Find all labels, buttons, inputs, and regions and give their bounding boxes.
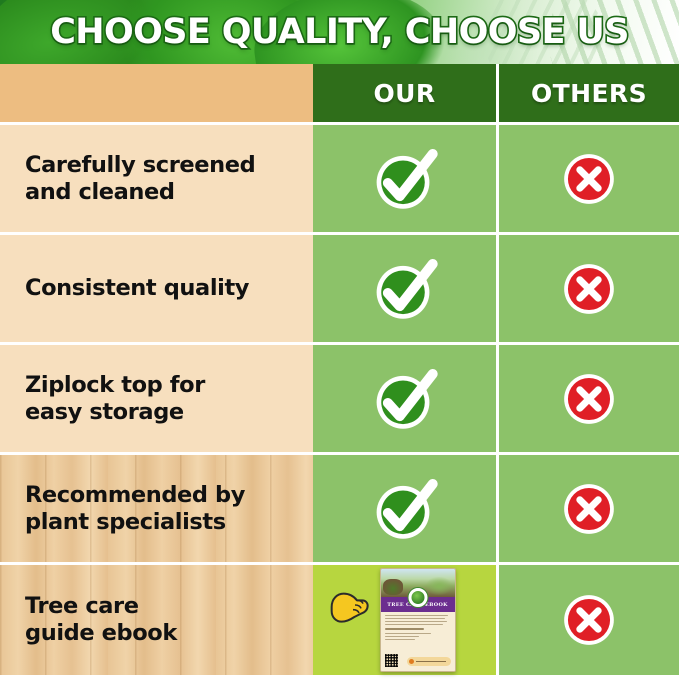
comparison-infographic: CHOOSE QUALITY, CHOOSE US OUR OTHERS Car… (0, 0, 679, 679)
feature-label: Ziplock top for easy storage (25, 372, 205, 425)
others-cell (499, 125, 679, 232)
our-cell (313, 125, 499, 232)
feature-label: Recommended by plant specialists (25, 482, 245, 535)
others-column-header: OTHERS (499, 64, 679, 122)
check-circle-icon (372, 256, 438, 322)
pointing-hand-icon (327, 587, 371, 627)
cross-circle-icon (562, 593, 616, 647)
our-cell (313, 235, 499, 342)
feature-label-line: Tree care (25, 593, 177, 620)
feature-label-line: Consistent quality (25, 275, 249, 302)
feature-label-line: Recommended by (25, 482, 245, 509)
feature-label-line: Ziplock top for (25, 372, 205, 399)
check-circle-icon (372, 366, 438, 432)
table-row: Tree care guide ebook (0, 562, 679, 675)
feature-cell: Ziplock top for easy storage (0, 345, 313, 452)
feature-label-line: easy storage (25, 399, 205, 426)
ebook-cover-card[interactable]: TREE CARE EBOOK (380, 568, 456, 672)
others-cell (499, 235, 679, 342)
others-cell (499, 345, 679, 452)
text-line (385, 615, 448, 616)
text-line (385, 639, 415, 640)
header-banner: CHOOSE QUALITY, CHOOSE US (0, 0, 679, 64)
cross-circle-icon (562, 262, 616, 316)
ebook-body-text (381, 612, 455, 671)
comparison-table: OUR OTHERS Carefully screened and cleane… (0, 64, 679, 679)
others-cell (499, 565, 679, 675)
feature-label-line: and cleaned (25, 179, 255, 206)
table-row: Consistent quality (0, 232, 679, 342)
feature-cell: Recommended by plant specialists (0, 455, 313, 562)
qr-code-icon (385, 654, 398, 667)
our-cell: TREE CARE EBOOK (313, 565, 499, 675)
feature-label-line: plant specialists (25, 509, 245, 536)
feature-label: Consistent quality (25, 275, 249, 302)
ebook-cta-pill (407, 657, 451, 666)
cross-circle-icon (562, 372, 616, 426)
our-column-label: OUR (373, 79, 435, 108)
feature-cell: Consistent quality (0, 235, 313, 342)
text-line (385, 618, 446, 619)
text-line (385, 621, 448, 622)
text-line (385, 628, 425, 630)
table-header-row: OUR OTHERS (0, 64, 679, 122)
table-row: Carefully screened and cleaned (0, 122, 679, 232)
our-column-header: OUR (313, 64, 499, 122)
feature-label-line: Carefully screened (25, 152, 255, 179)
feature-label: Tree care guide ebook (25, 593, 177, 646)
others-cell (499, 455, 679, 562)
feature-label: Carefully screened and cleaned (25, 152, 255, 205)
others-column-label: OTHERS (531, 79, 647, 108)
text-line (385, 624, 443, 625)
our-cell (313, 455, 499, 562)
feature-column-header (0, 64, 313, 122)
cross-circle-icon (562, 482, 616, 536)
feature-cell: Carefully screened and cleaned (0, 125, 313, 232)
ebook-logo-icon (407, 587, 428, 608)
cross-circle-icon (562, 152, 616, 206)
page-title: CHOOSE QUALITY, CHOOSE US (0, 12, 679, 52)
our-cell (313, 345, 499, 452)
check-circle-icon (372, 146, 438, 212)
table-row: Ziplock top for easy storage (0, 342, 679, 452)
feature-cell: Tree care guide ebook (0, 565, 313, 675)
table-row: Recommended by plant specialists (0, 452, 679, 562)
check-circle-icon (372, 476, 438, 542)
ebook-promo[interactable]: TREE CARE EBOOK (313, 565, 496, 675)
text-line (385, 636, 419, 637)
text-line (385, 633, 431, 634)
feature-label-line: guide ebook (25, 620, 177, 647)
